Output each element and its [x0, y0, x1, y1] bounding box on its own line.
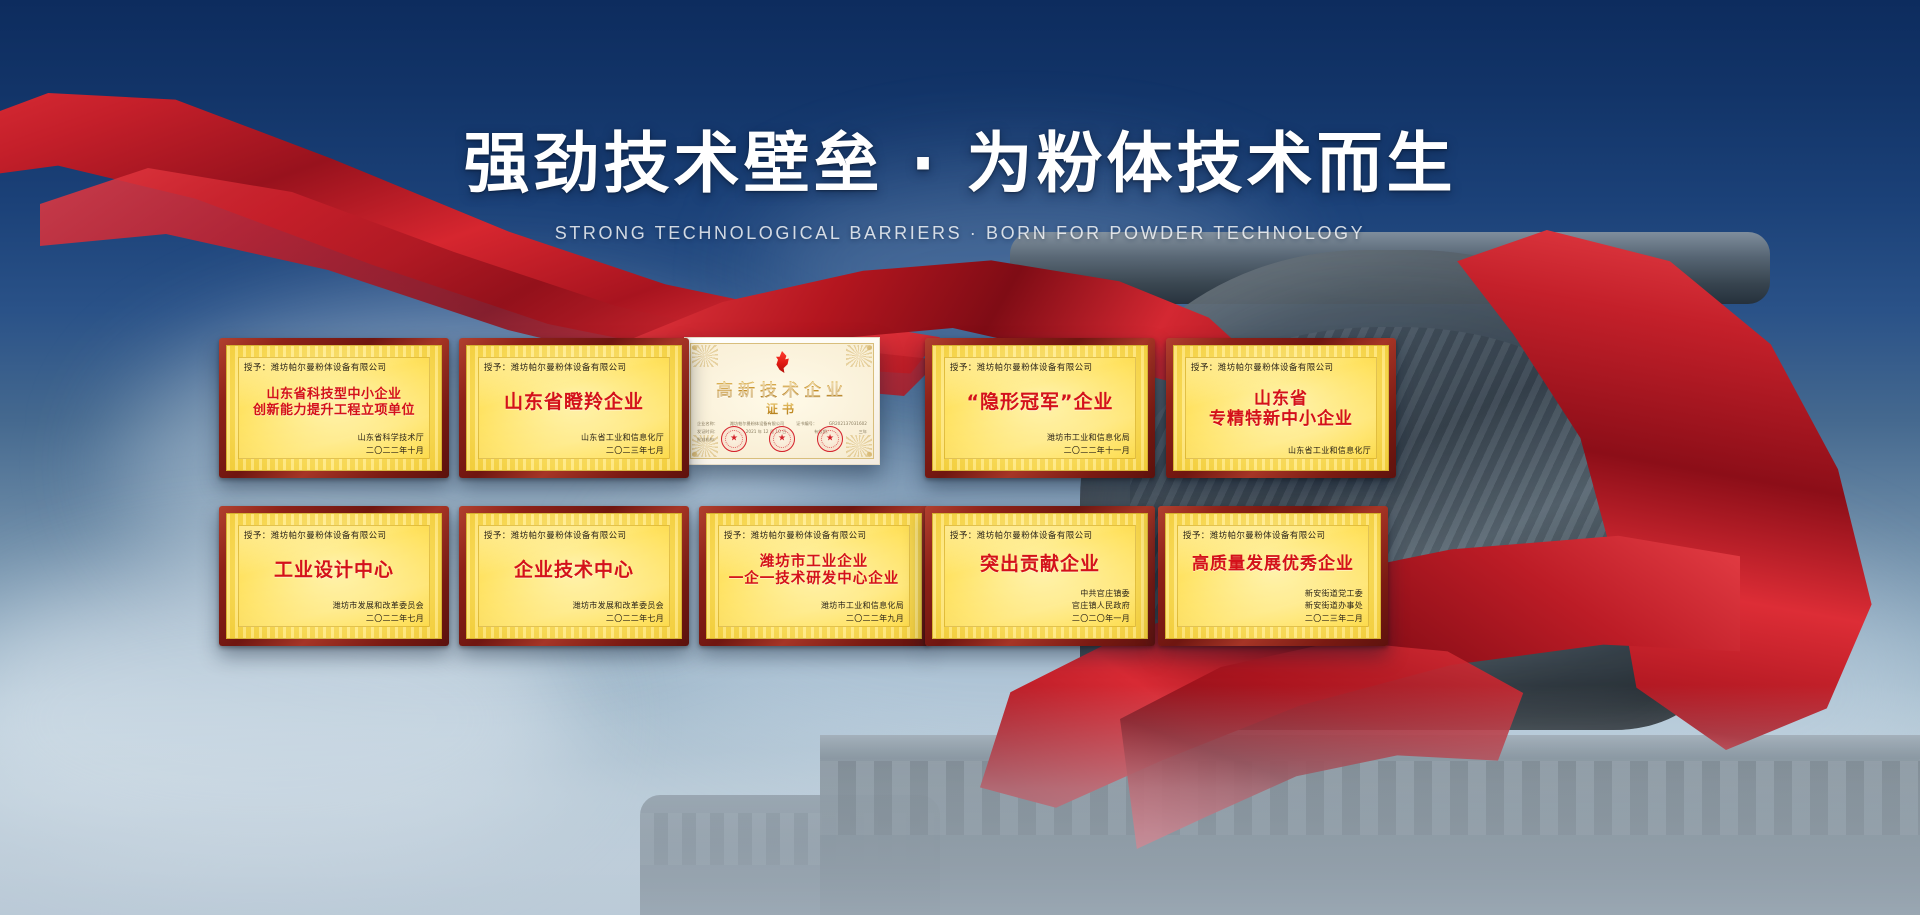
plaque-award-title: 工业设计中心: [244, 541, 424, 600]
plaque-issuer-line: 潍坊市发展和改革委员会: [484, 600, 664, 612]
plaque-award-title-line: 专精特新中小企业: [1209, 409, 1353, 429]
plaque-face-panel: 授予：潍坊帕尔曼粉体设备有限公司高质量发展优秀企业新安街道党工委新安街道办事处二…: [1165, 513, 1381, 639]
plaque-issuer-line: 山东省工业和信息化厅: [1191, 445, 1371, 457]
seal-icon: [769, 426, 795, 452]
award-plaque[interactable]: 授予：潍坊帕尔曼粉体设备有限公司企业技术中心潍坊市发展和改革委员会二〇二二年七月: [459, 506, 689, 646]
plaque-face-panel: 授予：潍坊帕尔曼粉体设备有限公司山东省瞪羚企业山东省工业和信息化厅二〇二三年七月: [466, 345, 682, 471]
corner-ornament-icon: [692, 345, 718, 367]
plaque-issuer-line: 二〇二二年九月: [724, 613, 904, 625]
plaque-issuer-line: 潍坊市发展和改革委员会: [244, 600, 424, 612]
plaque-face-panel: 授予：潍坊帕尔曼粉体设备有限公司突出贡献企业中共官庄镇委官庄镇人民政府二〇二〇年…: [932, 513, 1148, 639]
plaque-awardee: 授予：潍坊帕尔曼粉体设备有限公司: [1183, 529, 1363, 541]
plaque-face-panel: 授予：潍坊帕尔曼粉体设备有限公司潍坊市工业企业一企一技术研发中心企业潍坊市工业和…: [706, 513, 922, 639]
page-title: 强劲技术壁垒 · 为粉体技术而生: [0, 128, 1920, 201]
plaque-issuer: 新安街道党工委新安街道办事处二〇二三年二月: [1183, 588, 1363, 625]
award-plaque[interactable]: 授予：潍坊帕尔曼粉体设备有限公司山东省科技型中小企业创新能力提升工程立项单位山东…: [219, 338, 449, 478]
plaque-issuer: 山东省工业和信息化厅: [1191, 445, 1371, 457]
plaque-face-panel: 授予：潍坊帕尔曼粉体设备有限公司山东省科技型中小企业创新能力提升工程立项单位山东…: [226, 345, 442, 471]
plaque-issuer: 山东省工业和信息化厅二〇二三年七月: [484, 432, 664, 457]
plaque-content: 授予：潍坊帕尔曼粉体设备有限公司山东省专精特新中小企业山东省工业和信息化厅: [1174, 346, 1388, 470]
plaque-content: 授予：潍坊帕尔曼粉体设备有限公司山东省科技型中小企业创新能力提升工程立项单位山东…: [227, 346, 441, 470]
plaque-issuer: 潍坊市发展和改革委员会二〇二二年七月: [244, 600, 424, 625]
plaque-content: 授予：潍坊帕尔曼粉体设备有限公司山东省瞪羚企业山东省工业和信息化厅二〇二三年七月: [467, 346, 681, 470]
plaque-issuer: 潍坊市工业和信息化局二〇二二年十一月: [950, 432, 1130, 457]
plaque-award-title-line: 创新能力提升工程立项单位: [253, 403, 415, 418]
high-tech-enterprise-certificate[interactable]: 高新技术企业 证书 企业名称： 潍坊帕尔曼粉体设备有限公司 证书编号： GR20…: [684, 337, 880, 465]
plaque-issuer-line: 中共官庄镇委: [950, 588, 1130, 600]
plaque-issuer-line: 官庄镇人民政府: [950, 600, 1130, 612]
page-subtitle: STRONG TECHNOLOGICAL BARRIERS · BORN FOR…: [0, 223, 1920, 244]
award-plaque[interactable]: 授予：潍坊帕尔曼粉体设备有限公司工业设计中心潍坊市发展和改革委员会二〇二二年七月: [219, 506, 449, 646]
plaque-award-title: 突出贡献企业: [950, 541, 1130, 588]
corner-ornament-icon: [846, 345, 872, 367]
plaque-issuer-line: 潍坊市工业和信息化局: [724, 600, 904, 612]
plaque-issuer: 中共官庄镇委官庄镇人民政府二〇二〇年一月: [950, 588, 1130, 625]
award-plaque[interactable]: 授予：潍坊帕尔曼粉体设备有限公司山东省瞪羚企业山东省工业和信息化厅二〇二三年七月: [459, 338, 689, 478]
plaque-award-title: 山东省瞪羚企业: [484, 373, 664, 432]
plaque-awardee: 授予：潍坊帕尔曼粉体设备有限公司: [1191, 361, 1371, 373]
plaque-award-title: 山东省专精特新中小企业: [1191, 373, 1371, 445]
plaque-content: 授予：潍坊帕尔曼粉体设备有限公司工业设计中心潍坊市发展和改革委员会二〇二二年七月: [227, 514, 441, 638]
seal-icon: [817, 426, 843, 452]
plaque-issuer-line: 新安街道办事处: [1183, 600, 1363, 612]
plaque-issuer-line: 二〇二〇年一月: [950, 613, 1130, 625]
plaque-award-title-line: 企业技术中心: [514, 559, 634, 581]
plaque-award-title-line: 潍坊市工业企业: [760, 554, 869, 571]
plaque-face-panel: 授予：潍坊帕尔曼粉体设备有限公司“隐形冠军”企业潍坊市工业和信息化局二〇二二年十…: [932, 345, 1148, 471]
plaque-awardee: 授予：潍坊帕尔曼粉体设备有限公司: [950, 361, 1130, 373]
plaque-face-panel: 授予：潍坊帕尔曼粉体设备有限公司山东省专精特新中小企业山东省工业和信息化厅: [1173, 345, 1389, 471]
plaque-issuer: 山东省科学技术厅二〇二二年十月: [244, 432, 424, 457]
plaque-awardee: 授予：潍坊帕尔曼粉体设备有限公司: [244, 361, 424, 373]
plaque-issuer-line: 山东省科学技术厅: [244, 432, 424, 444]
plaque-issuer-line: 二〇二三年七月: [484, 445, 664, 457]
plaque-issuer-line: 二〇二二年七月: [484, 613, 664, 625]
plaque-award-title-line: 山东省科技型中小企业: [266, 387, 401, 402]
certificate-seals: [685, 426, 879, 452]
plaque-issuer-line: 新安街道党工委: [1183, 588, 1363, 600]
award-plaque[interactable]: 授予：潍坊帕尔曼粉体设备有限公司高质量发展优秀企业新安街道党工委新安街道办事处二…: [1158, 506, 1388, 646]
plaque-content: 授予：潍坊帕尔曼粉体设备有限公司潍坊市工业企业一企一技术研发中心企业潍坊市工业和…: [707, 514, 921, 638]
award-plaque[interactable]: 授予：潍坊帕尔曼粉体设备有限公司山东省专精特新中小企业山东省工业和信息化厅: [1166, 338, 1396, 478]
plaque-award-title-line: 山东省: [1254, 389, 1308, 409]
plaque-face-panel: 授予：潍坊帕尔曼粉体设备有限公司企业技术中心潍坊市发展和改革委员会二〇二二年七月: [466, 513, 682, 639]
plaque-issuer-line: 二〇二二年十一月: [950, 445, 1130, 457]
plaque-content: 授予：潍坊帕尔曼粉体设备有限公司“隐形冠军”企业潍坊市工业和信息化局二〇二二年十…: [933, 346, 1147, 470]
plaque-issuer: 潍坊市发展和改革委员会二〇二二年七月: [484, 600, 664, 625]
banner-stage: 强劲技术壁垒 · 为粉体技术而生 STRONG TECHNOLOGICAL BA…: [0, 0, 1920, 915]
plaque-award-title-line: 高质量发展优秀企业: [1192, 554, 1354, 574]
seal-icon: [721, 426, 747, 452]
headline-block: 强劲技术壁垒 · 为粉体技术而生 STRONG TECHNOLOGICAL BA…: [0, 128, 1920, 244]
plaque-issuer-line: 潍坊市工业和信息化局: [950, 432, 1130, 444]
plaque-content: 授予：潍坊帕尔曼粉体设备有限公司高质量发展优秀企业新安街道党工委新安街道办事处二…: [1166, 514, 1380, 638]
plaque-award-title: 潍坊市工业企业一企一技术研发中心企业: [724, 541, 904, 600]
plaque-award-title-line: 一企一技术研发中心企业: [729, 571, 900, 588]
plaque-award-title-line: 山东省瞪羚企业: [504, 391, 644, 413]
plaque-award-title: “隐形冠军”企业: [950, 373, 1130, 432]
plaque-issuer-line: 二〇二二年七月: [244, 613, 424, 625]
plaque-content: 授予：潍坊帕尔曼粉体设备有限公司企业技术中心潍坊市发展和改革委员会二〇二二年七月: [467, 514, 681, 638]
award-plaque[interactable]: 授予：潍坊帕尔曼粉体设备有限公司突出贡献企业中共官庄镇委官庄镇人民政府二〇二〇年…: [925, 506, 1155, 646]
plaque-awardee: 授予：潍坊帕尔曼粉体设备有限公司: [244, 529, 424, 541]
plaque-award-title: 山东省科技型中小企业创新能力提升工程立项单位: [244, 373, 424, 432]
plaque-award-title-line: 工业设计中心: [274, 559, 394, 581]
plaque-issuer-line: 二〇二二年十月: [244, 445, 424, 457]
award-plaque[interactable]: 授予：潍坊帕尔曼粉体设备有限公司“隐形冠军”企业潍坊市工业和信息化局二〇二二年十…: [925, 338, 1155, 478]
plaque-award-title: 企业技术中心: [484, 541, 664, 600]
plaque-issuer-line: 二〇二三年二月: [1183, 613, 1363, 625]
award-plaque[interactable]: 授予：潍坊帕尔曼粉体设备有限公司潍坊市工业企业一企一技术研发中心企业潍坊市工业和…: [699, 506, 929, 646]
plaque-awardee: 授予：潍坊帕尔曼粉体设备有限公司: [950, 529, 1130, 541]
certificate-subtitle: 证书: [685, 400, 879, 417]
plaque-award-title: 高质量发展优秀企业: [1183, 541, 1363, 588]
plaque-award-title-line: “隐形冠军”企业: [967, 391, 1114, 413]
plaque-awardee: 授予：潍坊帕尔曼粉体设备有限公司: [484, 361, 664, 373]
plaque-issuer-line: 山东省工业和信息化厅: [484, 432, 664, 444]
plaque-content: 授予：潍坊帕尔曼粉体设备有限公司突出贡献企业中共官庄镇委官庄镇人民政府二〇二〇年…: [933, 514, 1147, 638]
plaque-awardee: 授予：潍坊帕尔曼粉体设备有限公司: [724, 529, 904, 541]
plaque-issuer: 潍坊市工业和信息化局二〇二二年九月: [724, 600, 904, 625]
plaque-face-panel: 授予：潍坊帕尔曼粉体设备有限公司工业设计中心潍坊市发展和改革委员会二〇二二年七月: [226, 513, 442, 639]
plaque-award-title-line: 突出贡献企业: [980, 553, 1100, 575]
certificate-title: 高新技术企业: [685, 376, 879, 401]
plaque-awardee: 授予：潍坊帕尔曼粉体设备有限公司: [484, 529, 664, 541]
